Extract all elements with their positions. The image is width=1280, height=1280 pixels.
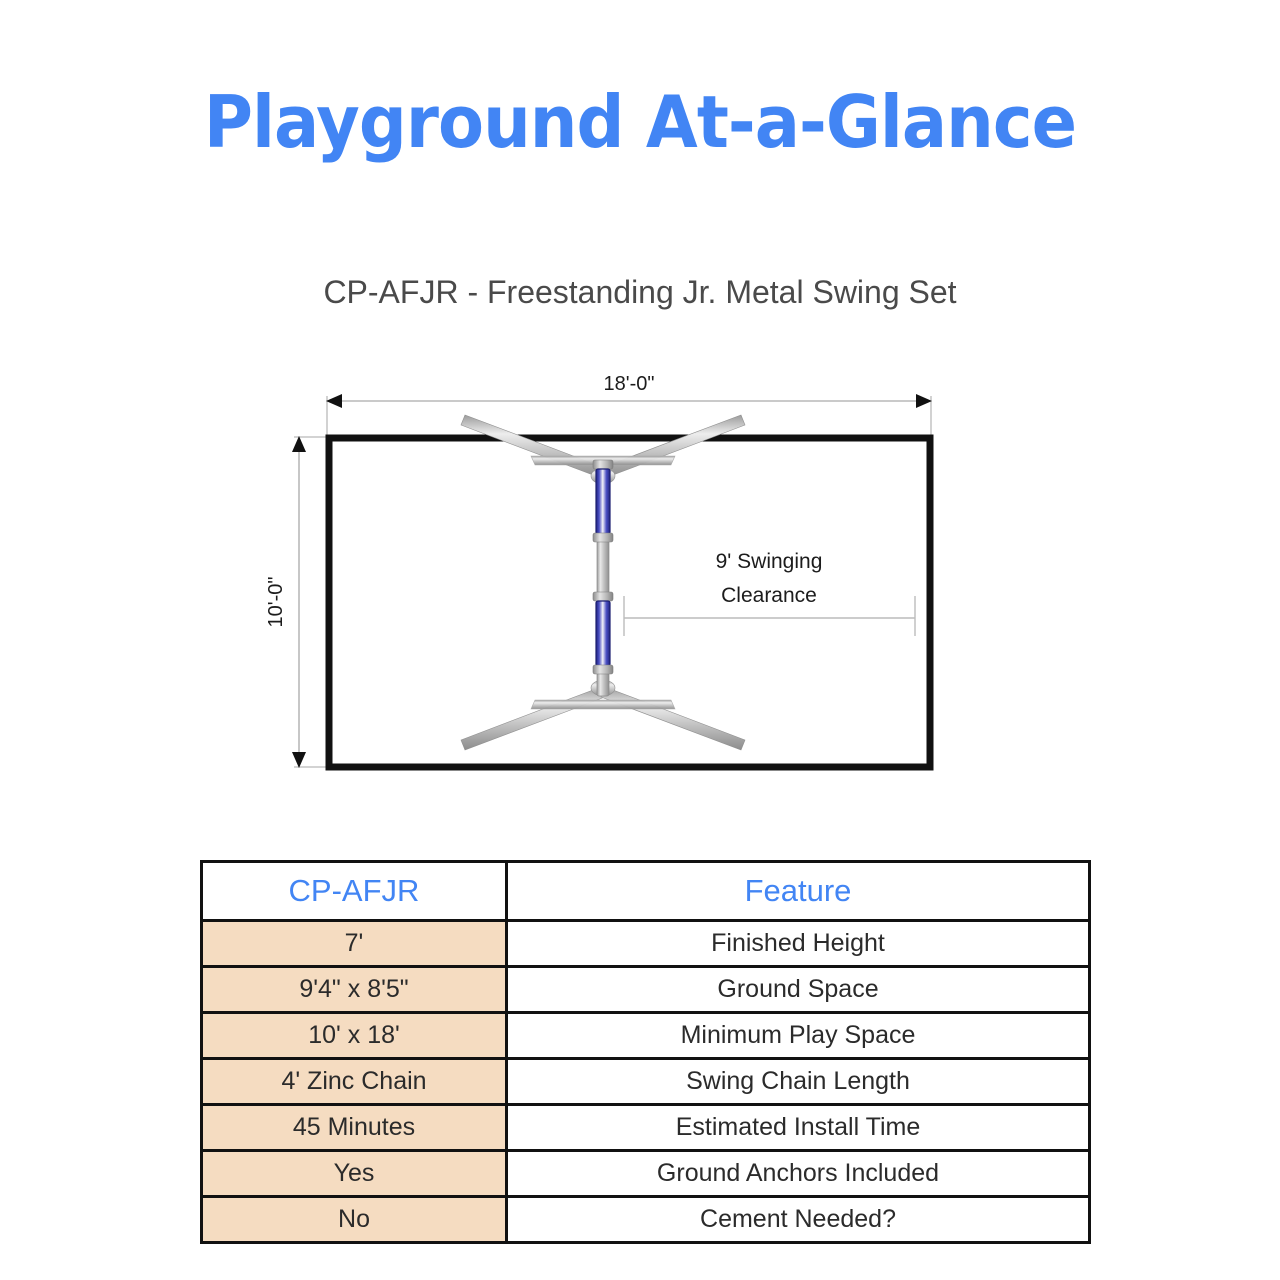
swing-2-top-collar <box>593 592 613 601</box>
cell-feature-4: Estimated Install Time <box>507 1105 1090 1151</box>
cell-model-2: 10' x 18' <box>202 1013 507 1059</box>
cell-feature-1: Ground Space <box>507 967 1090 1013</box>
width-dimension-label: 18'-0" <box>604 373 655 395</box>
bottom-cross-brace <box>531 700 675 709</box>
playground-diagram: 18'-0" 10'-0" <box>252 368 972 778</box>
table-row: 45 Minutes Estimated Install Time <box>202 1105 1090 1151</box>
cell-model-4: 45 Minutes <box>202 1105 507 1151</box>
width-dimension: 18'-0" <box>326 373 932 440</box>
table-row: 4' Zinc Chain Swing Chain Length <box>202 1059 1090 1105</box>
cell-model-0: 7' <box>202 921 507 967</box>
swing-1-bottom-collar <box>593 533 613 542</box>
cell-feature-6: Cement Needed? <box>507 1197 1090 1243</box>
swing-1-top-collar <box>593 460 613 469</box>
column-header-model: CP-AFJR <box>202 862 507 921</box>
swing-seat-2 <box>593 592 613 674</box>
cell-feature-5: Ground Anchors Included <box>507 1151 1090 1197</box>
table-header-row: CP-AFJR Feature <box>202 862 1090 921</box>
swing-2-bottom-collar <box>593 665 613 674</box>
cell-feature-2: Minimum Play Space <box>507 1013 1090 1059</box>
table-row: 9'4" x 8'5" Ground Space <box>202 967 1090 1013</box>
play-space-frame <box>329 438 930 767</box>
cell-model-5: Yes <box>202 1151 507 1197</box>
product-subtitle: CP-AFJR - Freestanding Jr. Metal Swing S… <box>0 270 1280 314</box>
table-row: Yes Ground Anchors Included <box>202 1151 1090 1197</box>
table-row: 7' Finished Height <box>202 921 1090 967</box>
cell-model-6: No <box>202 1197 507 1243</box>
cell-feature-0: Finished Height <box>507 921 1090 967</box>
clearance-label-line2: Clearance <box>721 584 817 607</box>
cell-feature-3: Swing Chain Length <box>507 1059 1090 1105</box>
cell-model-3: 4' Zinc Chain <box>202 1059 507 1105</box>
cell-model-1: 9'4" x 8'5" <box>202 967 507 1013</box>
page-title: Playground At-a-Glance <box>45 78 1235 166</box>
table-row: No Cement Needed? <box>202 1197 1090 1243</box>
swing-1-seat <box>596 469 610 534</box>
table-row: 10' x 18' Minimum Play Space <box>202 1013 1090 1059</box>
height-dimension-label: 10'-0" <box>265 577 287 628</box>
column-header-feature: Feature <box>507 862 1090 921</box>
specifications-table: CP-AFJR Feature 7' Finished Height 9'4" … <box>200 860 1091 1244</box>
swing-seat-1 <box>593 460 613 542</box>
clearance-label-line1: 9' Swinging <box>716 550 823 573</box>
swing-2-seat <box>596 601 610 666</box>
